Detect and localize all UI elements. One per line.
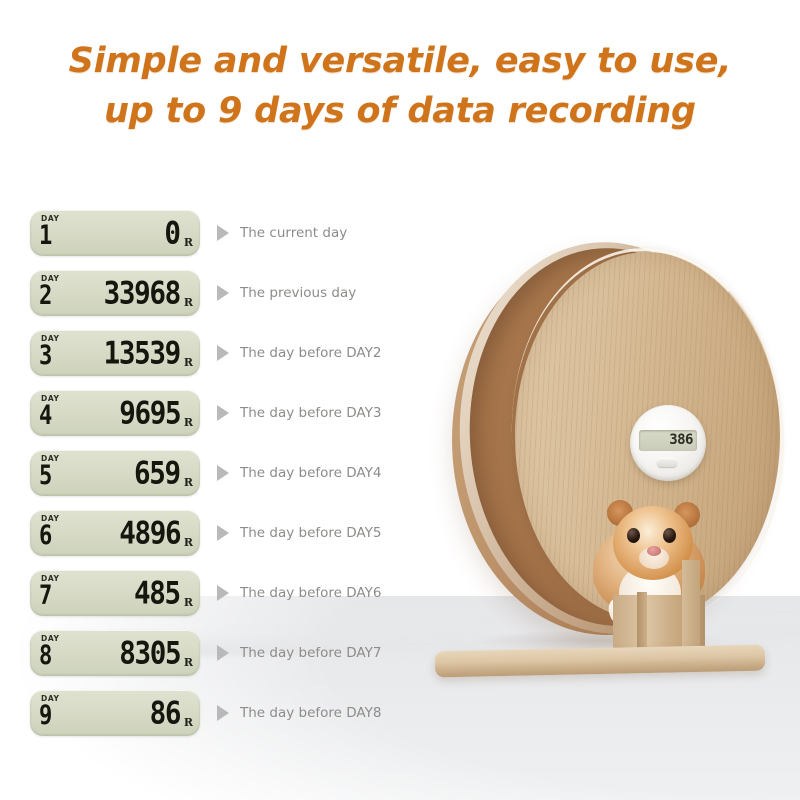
lcd-display-4: DAY 4 9695 R (30, 390, 200, 436)
triangle-right-icon (217, 525, 229, 541)
lcd-day-number: 7 (39, 581, 52, 611)
lcd-value: 659 (134, 456, 180, 492)
day-caption: The day before DAY4 (240, 465, 450, 481)
product-infographic: Simple and versatile, easy to use, up to… (0, 0, 800, 800)
lcd-display-5: DAY 5 659 R (30, 450, 200, 496)
lcd-value: 13539 (104, 336, 180, 372)
lcd-value: 33968 (104, 276, 180, 312)
wheel-stand-brace (637, 592, 647, 654)
lcd-value: 0 (165, 216, 180, 252)
day-caption: The day before DAY6 (240, 585, 450, 601)
day-row-1: DAY 1 0 R The current day (30, 210, 450, 256)
day-row-9: DAY 9 86 R The day before DAY8 (30, 690, 450, 736)
lcd-display-6: DAY 6 4896 R (30, 510, 200, 556)
lcd-unit-label: R (184, 656, 193, 669)
lcd-display-1: DAY 1 0 R (30, 210, 200, 256)
lcd-day-number: 3 (39, 341, 52, 371)
triangle-right-icon (217, 405, 229, 421)
lcd-display-8: DAY 8 8305 R (30, 630, 200, 676)
lcd-day-number: 9 (39, 701, 52, 731)
triangle-right-icon (217, 345, 229, 361)
day-caption: The day before DAY3 (240, 405, 450, 421)
lcd-unit-label: R (184, 476, 193, 489)
day-caption: The current day (240, 225, 450, 241)
odometer-module[interactable]: 386 (630, 405, 706, 481)
lcd-value: 485 (134, 576, 180, 612)
day-row-4: DAY 4 9695 R The day before DAY3 (30, 390, 450, 436)
triangle-right-icon (217, 285, 229, 301)
lcd-unit-label: R (184, 296, 193, 309)
lcd-display-9: DAY 9 86 R (30, 690, 200, 736)
hamster-eye-left (627, 528, 640, 543)
odometer-button[interactable] (657, 458, 677, 467)
hamster-wheel-photo: 386 (430, 200, 800, 720)
lcd-unit-label: R (184, 416, 193, 429)
day-row-2: DAY 2 33968 R The previous day (30, 270, 450, 316)
lcd-day-number: 6 (39, 521, 52, 551)
lcd-day-number: 8 (39, 641, 52, 671)
lcd-value: 4896 (119, 516, 180, 552)
lcd-day-number: 2 (39, 281, 52, 311)
lcd-day-number: 5 (39, 461, 52, 491)
day-row-7: DAY 7 485 R The day before DAY6 (30, 570, 450, 616)
lcd-day-number: 4 (39, 401, 52, 431)
day-caption: The day before DAY8 (240, 705, 450, 721)
lcd-unit-label: R (184, 596, 193, 609)
day-caption: The day before DAY7 (240, 645, 450, 661)
lcd-unit-label: R (184, 356, 193, 369)
lcd-unit-label: R (184, 536, 193, 549)
odometer-value: 386 (669, 432, 693, 449)
lcd-value: 86 (150, 696, 180, 732)
lcd-unit-label: R (184, 716, 193, 729)
lcd-display-2: DAY 2 33968 R (30, 270, 200, 316)
triangle-right-icon (217, 585, 229, 601)
wheel-stand-post-rear (682, 560, 700, 658)
lcd-day-number: 1 (39, 221, 52, 251)
triangle-right-icon (217, 705, 229, 721)
day-caption: The day before DAY5 (240, 525, 450, 541)
day-caption: The day before DAY2 (240, 345, 450, 361)
wheel-stand-base (435, 645, 765, 678)
lcd-display-7: DAY 7 485 R (30, 570, 200, 616)
day-row-3: DAY 3 13539 R The day before DAY2 (30, 330, 450, 376)
odometer-lcd: 386 (639, 430, 697, 451)
day-row-8: DAY 8 8305 R The day before DAY7 (30, 630, 450, 676)
triangle-right-icon (217, 465, 229, 481)
day-row-5: DAY 5 659 R The day before DAY4 (30, 450, 450, 496)
lcd-value: 9695 (119, 396, 180, 432)
day-row-6: DAY 6 4896 R The day before DAY5 (30, 510, 450, 556)
lcd-display-3: DAY 3 13539 R (30, 330, 200, 376)
lcd-value: 8305 (119, 636, 180, 672)
triangle-right-icon (217, 645, 229, 661)
lcd-unit-label: R (184, 236, 193, 249)
day-caption: The previous day (240, 285, 450, 301)
triangle-right-icon (217, 225, 229, 241)
hamster-nose (647, 546, 661, 556)
hamster-eye-right (663, 528, 676, 543)
